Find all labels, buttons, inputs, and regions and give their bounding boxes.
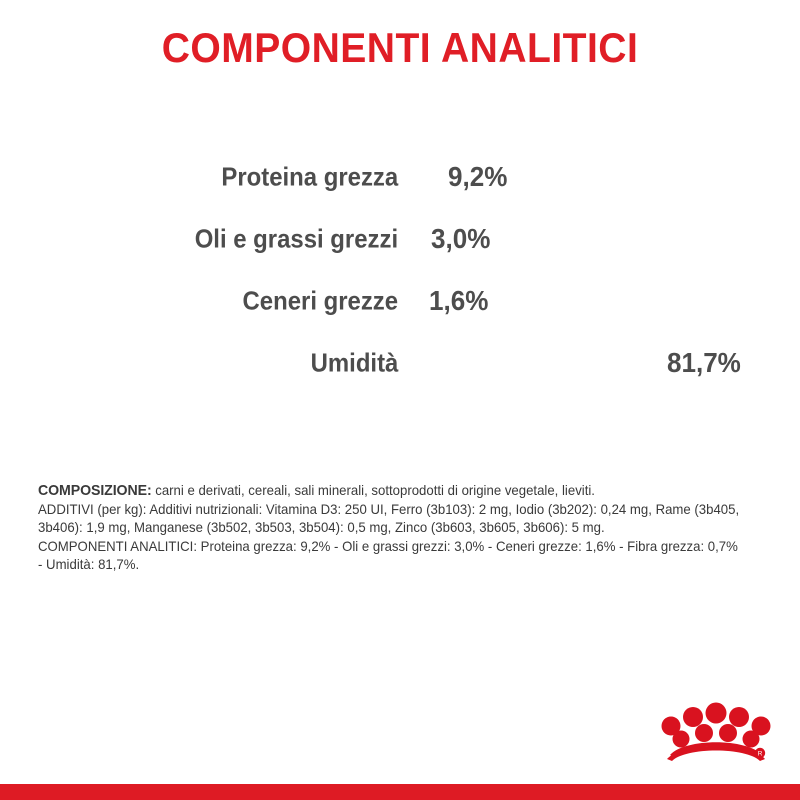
product-analytical-components-panel: COMPONENTI ANALITICI Proteina grezza 9,2… xyxy=(0,0,800,800)
chart-row-label: Ceneri grezze xyxy=(242,286,398,317)
chart-row-label: Oli e grassi grezzi xyxy=(195,224,398,255)
chart-bar-wrap xyxy=(400,222,420,256)
page-title: COMPONENTI ANALITICI xyxy=(28,24,772,72)
chart-row-value: 9,2% xyxy=(448,161,507,193)
chart-row: Ceneri grezze 1,6% xyxy=(0,270,800,332)
svg-text:R: R xyxy=(758,751,763,758)
composition-analytical: COMPONENTI ANALITICI: Proteina grezza: 9… xyxy=(38,538,742,575)
composition-lead-text: carni e derivati, cereali, sali minerali… xyxy=(152,483,595,498)
royal-canin-crown-logo: R xyxy=(660,702,772,764)
chart-row-label: Umidità xyxy=(310,348,398,379)
analytical-components-chart: Proteina grezza 9,2% Oli e grassi grezzi… xyxy=(0,146,800,394)
chart-row-value: 3,0% xyxy=(431,223,490,255)
composition-text-block: COMPOSIZIONE: carni e derivati, cereali,… xyxy=(38,482,742,575)
composition-additives: ADDITIVI (per kg): Additivi nutrizionali… xyxy=(38,501,742,538)
chart-row: Umidità 81,7% xyxy=(0,332,800,394)
chart-row: Proteina grezza 9,2% xyxy=(0,146,800,208)
registered-mark-icon: R xyxy=(755,748,765,758)
chart-row: Oli e grassi grezzi 3,0% xyxy=(0,208,800,270)
chart-row-value: 81,7% xyxy=(667,347,741,379)
chart-row-value: 1,6% xyxy=(429,285,488,317)
chart-bar-wrap xyxy=(400,160,437,194)
chart-row-label: Proteina grezza xyxy=(221,162,398,193)
composition-lead-label: COMPOSIZIONE: xyxy=(38,483,152,499)
chart-bar-wrap xyxy=(400,284,418,318)
composition-line-1: COMPOSIZIONE: carni e derivati, cereali,… xyxy=(38,482,742,501)
footer-red-bar xyxy=(0,784,800,800)
chart-bar-wrap xyxy=(400,346,656,380)
